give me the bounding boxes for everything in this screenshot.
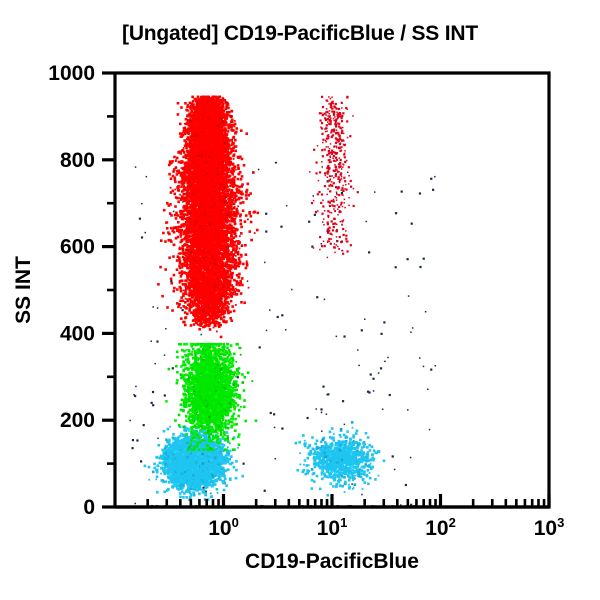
scatter-plot-canvas: 10010110210302004006008001000 CD19-Pacif… xyxy=(0,0,600,600)
population-cd19-pos-granulocytes xyxy=(309,96,359,258)
population-granulocytes xyxy=(157,96,259,339)
x-axis-tick-label: 101 xyxy=(317,515,348,540)
population-cd19-pos-b-cells xyxy=(294,421,385,497)
x-axis-tick-label: 102 xyxy=(425,515,456,540)
data-points-layer xyxy=(129,96,436,508)
y-axis-tick-label: 600 xyxy=(60,236,95,259)
flow-cytometry-plot: [Ungated] CD19-PacificBlue / SS INT 1001… xyxy=(0,0,600,600)
y-axis-tick-label: 200 xyxy=(60,409,95,432)
y-axis-title: SS INT xyxy=(12,256,35,324)
axis-tick-labels: 10010110210302004006008001000 xyxy=(48,62,564,540)
y-axis-tick-label: 400 xyxy=(60,322,95,345)
x-axis-title: CD19-PacificBlue xyxy=(245,550,419,573)
y-axis-tick-label: 1000 xyxy=(48,62,95,85)
y-axis-tick-label: 800 xyxy=(60,149,95,172)
x-axis-tick-label: 103 xyxy=(534,515,565,540)
x-axis-tick-label: 100 xyxy=(208,515,239,540)
y-axis-tick-label: 0 xyxy=(83,496,95,519)
population-monocytes xyxy=(165,343,257,451)
